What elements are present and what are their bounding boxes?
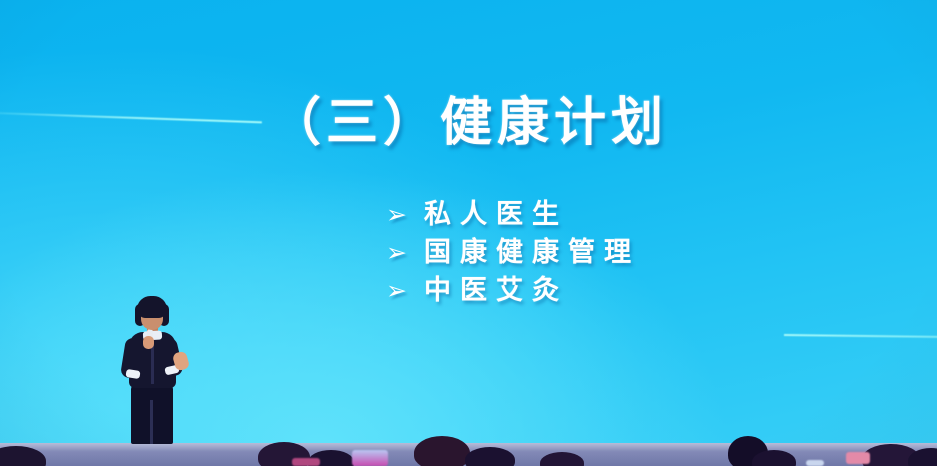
bullet-label: 国康健康管理 [424,235,640,269]
list-item: ➢ 国康健康管理 [386,235,640,269]
speaker-leg-separation [150,400,153,444]
speaker-figure [104,296,200,446]
slide-bullet-list: ➢ 私人医生 ➢ 国康健康管理 ➢ 中医艾灸 [386,197,640,307]
arrow-bullet-icon: ➢ [386,236,424,270]
audience-silhouette [465,447,515,466]
speaker-left-hand [143,336,154,349]
stage-prop-light [846,452,870,464]
arrow-bullet-icon: ➢ [386,274,424,308]
list-item: ➢ 私人医生 [386,197,640,231]
slide-title: （三）健康计划 [0,80,937,155]
bullet-label: 私人医生 [424,197,568,231]
stage-prop-light [806,460,824,466]
arrow-bullet-icon: ➢ [386,198,424,232]
list-item: ➢ 中医艾灸 [386,273,640,307]
stage-prop-light [292,458,320,466]
bullet-label: 中医艾灸 [424,273,568,307]
audience-silhouette [414,436,470,466]
speaker-hair [137,296,167,318]
stage-prop-light [352,450,388,466]
presentation-screenshot: （三）健康计划 ➢ 私人医生 ➢ 国康健康管理 ➢ 中医艾灸 [0,0,937,466]
